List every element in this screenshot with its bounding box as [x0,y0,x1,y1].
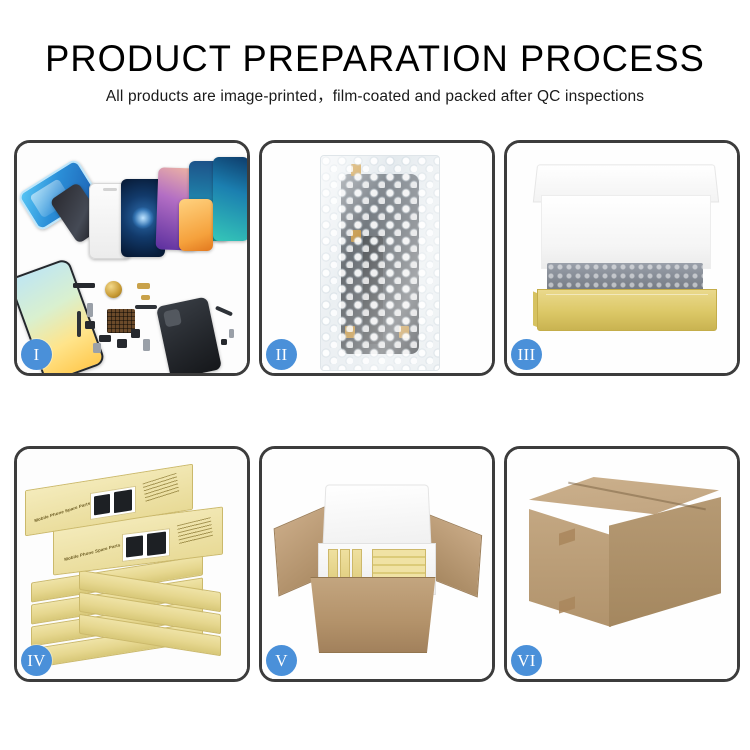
carton-packing-scene [262,449,492,679]
spare-chip-5 [85,321,95,329]
phone-parts-scene [17,143,247,373]
cyan-gradient-phone [213,157,247,241]
spare-chip-6 [99,335,111,342]
spare-chip-10 [143,339,150,351]
step-badge-1: I [21,339,52,370]
page-title: PRODUCT PREPARATION PROCESS [8,38,743,80]
step-badge-3: III [511,339,542,370]
spare-chip-11 [221,339,227,345]
white-foam-sheet [541,195,711,269]
product-preparation-infographic: PRODUCT PREPARATION PROCESS All products… [0,0,750,750]
spare-chip-2 [137,283,150,289]
spare-chip-7 [93,343,101,353]
panel-2-image [262,143,492,373]
bubble-wrap-scene [262,143,492,373]
header: PRODUCT PREPARATION PROCESS All products… [0,38,750,107]
process-step-grid: I II [14,140,740,682]
flex-cable-3 [215,306,233,317]
page-subtitle: All products are image-printed，film-coat… [0,87,750,107]
process-step-panel-4: Mobile Phone Spare Parts Mobile Phone Sp… [14,446,250,682]
panel-1-image [17,143,247,373]
process-step-panel-5: V [259,446,495,682]
box-2-window [122,528,170,562]
sealed-carton-scene [507,449,737,679]
spare-chip-4 [87,303,93,317]
process-step-panel-6: VI [504,446,740,682]
step-badge-4: IV [21,645,52,676]
open-inner-box-scene [507,143,737,373]
step-badge-5: V [266,645,297,676]
flex-cable-1 [77,311,81,337]
bubble-wrap-bag [320,155,440,371]
process-step-panel-1: I [14,140,250,376]
panel-5-image [262,449,492,679]
foam-box-lid [322,485,431,548]
spare-chip-8 [117,339,127,348]
panel-6-image [507,449,737,679]
process-step-panel-3: III [504,140,740,376]
process-step-panel-2: II [259,140,495,376]
spare-chip-3 [141,295,150,300]
flex-cable-2 [135,305,157,309]
step-badge-2: II [266,339,297,370]
stacked-boxes-scene: Mobile Phone Spare Parts Mobile Phone Sp… [17,449,247,679]
panel-4-image: Mobile Phone Spare Parts Mobile Phone Sp… [17,449,247,679]
yellow-box-tray [537,289,717,331]
phone-back-housing [156,296,222,373]
panel-3-image [507,143,737,373]
step-badge-6: VI [511,645,542,676]
bag-gloss-overlay [321,156,439,370]
carton-front-face [302,577,444,653]
carton-right-face [609,497,721,627]
spare-chip-9 [131,329,140,338]
orange-gradient-phone [179,199,213,251]
spare-chip-12 [229,329,234,338]
spare-chip-1 [73,283,95,288]
speaker-component [105,281,122,298]
